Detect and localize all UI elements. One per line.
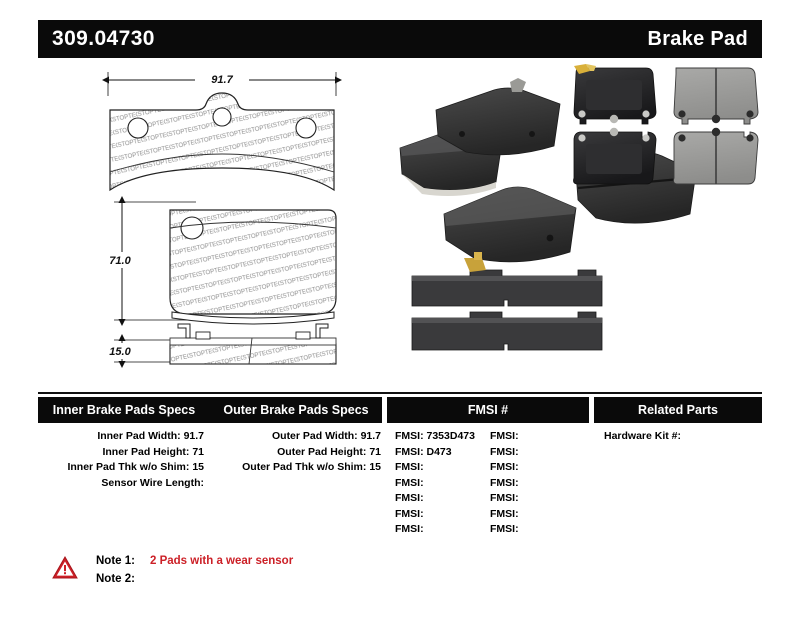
spec-row: Sensor Wire Length: <box>38 476 210 492</box>
fmsi-label: FMSI: <box>490 461 519 473</box>
table-body: Inner Pad Width: 91.7 Inner Pad Height: … <box>38 429 762 538</box>
fmsi-label: FMSI: <box>395 430 424 442</box>
warning-icon <box>52 556 78 580</box>
spec-row: Outer Pad Width: 91.7 <box>210 429 387 445</box>
fmsi-row: FMSI: <box>490 460 585 476</box>
related-parts-column: Hardware Kit #: <box>594 429 762 538</box>
fmsi-row: FMSI: <box>490 522 585 538</box>
fmsi-row: FMSI: <box>490 445 585 461</box>
technical-drawing-svg: STOPTECH 91.7 <box>100 62 380 372</box>
spec-row: Outer Pad Height: 71 <box>210 445 387 461</box>
notes-text-block: Note 1: 2 Pads with a wear sensor Note 2… <box>96 552 293 588</box>
dimension-width: 91.7 <box>108 71 336 96</box>
fmsi-row: FMSI: <box>395 476 490 492</box>
hardware-kit-label: Hardware Kit #: <box>604 430 681 442</box>
inner-specs-column: Inner Pad Width: 91.7 Inner Pad Height: … <box>38 429 210 538</box>
pad-top-view <box>110 93 334 190</box>
notes-section: Note 1: 2 Pads with a wear sensor Note 2… <box>52 552 293 588</box>
fmsi-label: FMSI: <box>490 477 519 489</box>
fmsi-label: FMSI: <box>395 508 424 520</box>
spec-label: Sensor Wire Length: <box>101 477 204 489</box>
column-header-fmsi: FMSI # <box>387 397 589 423</box>
fmsi-label: FMSI: <box>490 492 519 504</box>
technical-drawing: STOPTECH 91.7 <box>100 62 380 372</box>
spec-label: Outer Pad Height: <box>277 446 366 458</box>
note-2-text <box>144 570 150 588</box>
spec-row: Inner Pad Height: 71 <box>38 445 210 461</box>
spec-table: Inner Brake Pads Specs Outer Brake Pads … <box>38 392 762 538</box>
fmsi-label: FMSI: <box>490 446 519 458</box>
outer-specs-column: Outer Pad Width: 91.7 Outer Pad Height: … <box>210 429 387 538</box>
spec-row: Outer Pad Thk w/o Shim: 15 <box>210 460 387 476</box>
pad-front-view <box>170 210 336 324</box>
note-1-row: Note 1: 2 Pads with a wear sensor <box>96 552 293 570</box>
product-spec-sheet: 309.04730 Brake Pad STOPTECH <box>0 0 800 619</box>
note-1-text: 2 Pads with a wear sensor <box>144 552 293 570</box>
fmsi-left-list: FMSI: 7353D473 FMSI: D473 FMSI: FMSI: <box>395 429 490 538</box>
fmsi-right-list: FMSI: FMSI: FMSI: FMSI: <box>490 429 585 538</box>
spec-label: Inner Pad Width: <box>97 430 180 442</box>
pad-side-view <box>170 324 336 364</box>
fmsi-label: FMSI: <box>490 508 519 520</box>
spec-value: 15 <box>192 461 204 473</box>
note-2-row: Note 2: <box>96 570 293 588</box>
table-top-rule <box>38 392 762 394</box>
fmsi-value: D473 <box>427 446 452 458</box>
fmsi-row: FMSI: 7353D473 <box>395 429 490 445</box>
fmsi-label: FMSI: <box>490 523 519 535</box>
fmsi-label: FMSI: <box>395 461 424 473</box>
spec-value: 91.7 <box>184 430 204 442</box>
part-number: 309.04730 <box>52 27 155 51</box>
fmsi-row: FMSI: <box>490 491 585 507</box>
dimension-width-value: 91.7 <box>211 74 233 86</box>
fmsi-label: FMSI: <box>395 523 424 535</box>
spec-label: Outer Pad Width: <box>272 430 358 442</box>
dimension-height-value: 71.0 <box>109 255 131 267</box>
fmsi-column: FMSI: 7353D473 FMSI: D473 FMSI: FMSI: <box>387 429 594 538</box>
table-header-row: Inner Brake Pads Specs Outer Brake Pads … <box>38 397 762 423</box>
fmsi-value: 7353D473 <box>427 430 475 442</box>
fmsi-row: FMSI: <box>395 507 490 523</box>
page-header-bar: 309.04730 Brake Pad <box>38 20 762 58</box>
note-2-label: Note 2: <box>96 570 144 588</box>
spec-label: Inner Pad Height: <box>102 446 189 458</box>
spec-label: Outer Pad Thk w/o Shim: <box>242 461 366 473</box>
dimension-thickness-value: 15.0 <box>109 346 131 358</box>
column-header-outer-specs: Outer Brake Pads Specs <box>210 397 382 423</box>
product-photos <box>390 62 780 372</box>
wear-sensor-tab <box>464 258 486 272</box>
related-parts-row: Hardware Kit #: <box>594 429 762 445</box>
spec-label: Inner Pad Thk w/o Shim: <box>67 461 189 473</box>
spec-value: 91.7 <box>361 430 381 442</box>
fmsi-row: FMSI: <box>490 507 585 523</box>
spec-value: 15 <box>369 461 381 473</box>
photo-pads-edge-view <box>412 252 602 350</box>
fmsi-row: FMSI: <box>490 476 585 492</box>
fmsi-label: FMSI: <box>490 430 519 442</box>
fmsi-row: FMSI: <box>395 522 490 538</box>
product-type-label: Brake Pad <box>647 28 748 51</box>
spec-row: Inner Pad Width: 91.7 <box>38 429 210 445</box>
fmsi-row: FMSI: <box>395 491 490 507</box>
fmsi-label: FMSI: <box>395 446 424 458</box>
fmsi-row: FMSI: <box>490 429 585 445</box>
product-photos-svg <box>390 62 780 372</box>
fmsi-label: FMSI: <box>395 477 424 489</box>
spec-value: 71 <box>192 446 204 458</box>
column-header-related-parts: Related Parts <box>594 397 762 423</box>
fmsi-row: FMSI: D473 <box>395 445 490 461</box>
fmsi-row: FMSI: <box>395 460 490 476</box>
spec-row: Inner Pad Thk w/o Shim: 15 <box>38 460 210 476</box>
note-1-label: Note 1: <box>96 552 144 570</box>
column-header-inner-specs: Inner Brake Pads Specs <box>38 397 210 423</box>
fmsi-label: FMSI: <box>395 492 424 504</box>
spec-value: 71 <box>369 446 381 458</box>
